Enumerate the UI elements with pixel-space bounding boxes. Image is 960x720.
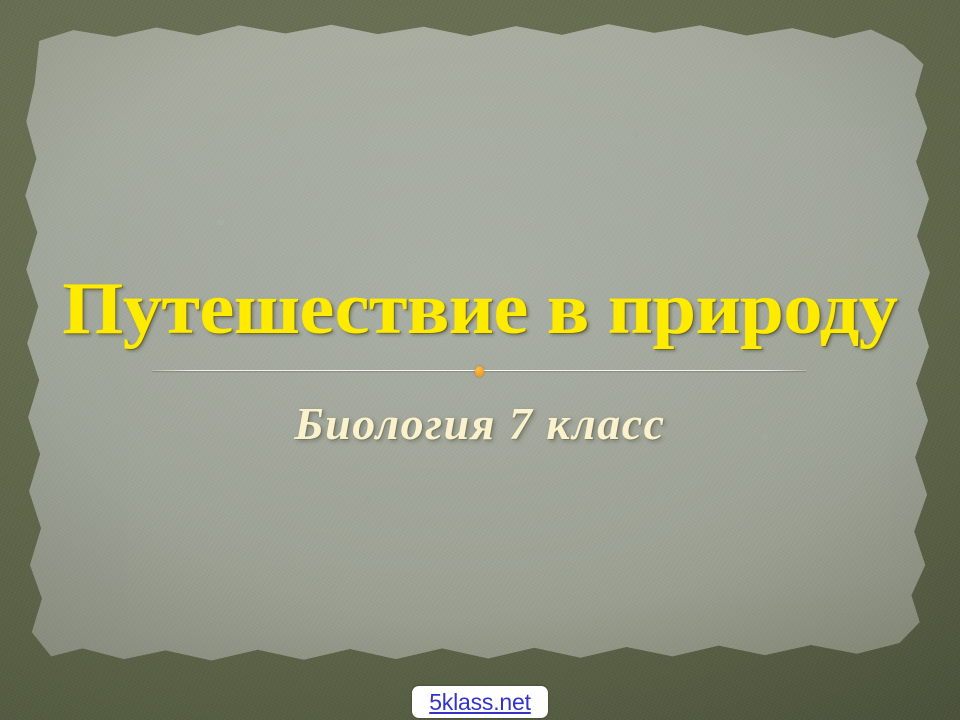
page-title: Путешествие в природу bbox=[0, 272, 960, 346]
watermark-link[interactable]: 5klass.net bbox=[429, 691, 531, 714]
page-subtitle: Биология 7 класс bbox=[0, 400, 960, 448]
orange-dot-icon bbox=[475, 366, 484, 377]
watermark-badge: 5klass.net bbox=[412, 686, 548, 718]
slide-content: Путешествие в природу Биология 7 класс bbox=[0, 0, 960, 720]
presentation-slide: Путешествие в природу Биология 7 класс 5… bbox=[0, 0, 960, 720]
title-divider bbox=[152, 369, 806, 373]
title-block: Путешествие в природу bbox=[0, 272, 960, 346]
subtitle-block: Биология 7 класс bbox=[0, 400, 960, 448]
